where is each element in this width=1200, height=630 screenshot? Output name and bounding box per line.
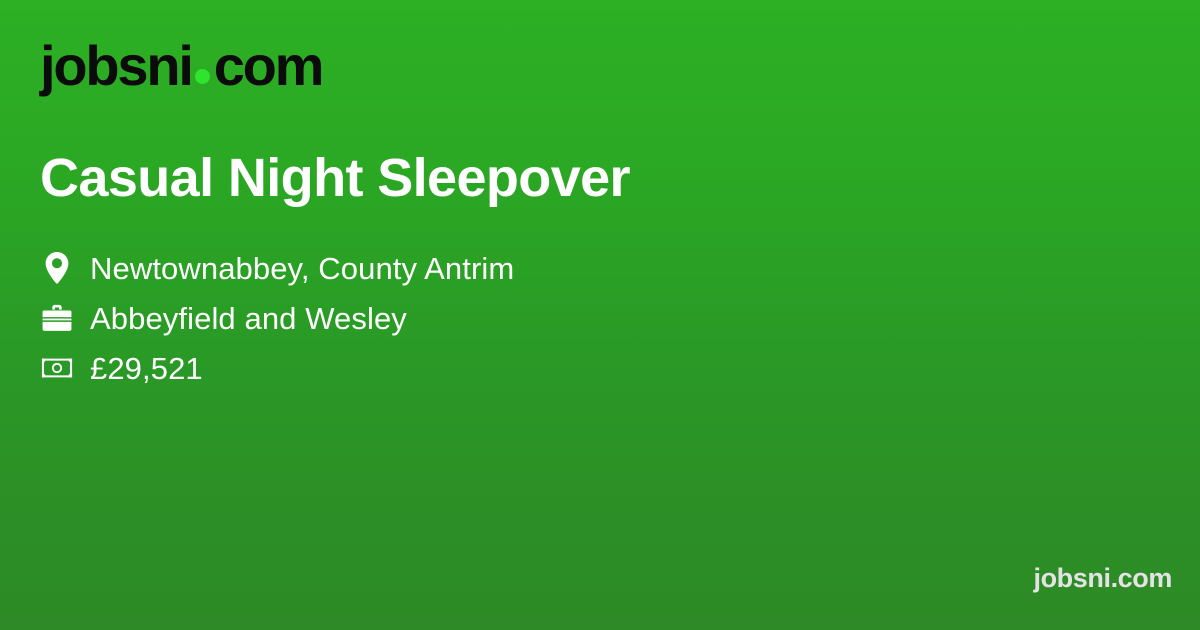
logo-text-primary: jobsni	[40, 38, 192, 94]
banknote-icon	[40, 351, 74, 385]
site-logo[interactable]: jobsni com	[40, 38, 322, 94]
job-meta-list: Newtownabbey, County Antrim Abbeyfield a…	[40, 243, 514, 393]
job-meta-employer: Abbeyfield and Wesley	[40, 293, 514, 343]
footer-watermark: jobsni.com	[1033, 565, 1172, 592]
briefcase-icon	[40, 301, 74, 335]
job-share-card: jobsni com Casual Night Sleepover Newtow…	[0, 0, 1200, 630]
logo-dot-icon	[195, 69, 210, 84]
job-title: Casual Night Sleepover	[40, 148, 630, 208]
job-salary-text: £29,521	[90, 353, 203, 384]
job-location-text: Newtownabbey, County Antrim	[90, 253, 514, 284]
job-employer-text: Abbeyfield and Wesley	[90, 303, 407, 334]
job-meta-salary: £29,521	[40, 343, 514, 393]
location-pin-icon	[40, 251, 74, 285]
logo-text-secondary: com	[214, 38, 323, 94]
job-meta-location: Newtownabbey, County Antrim	[40, 243, 514, 293]
